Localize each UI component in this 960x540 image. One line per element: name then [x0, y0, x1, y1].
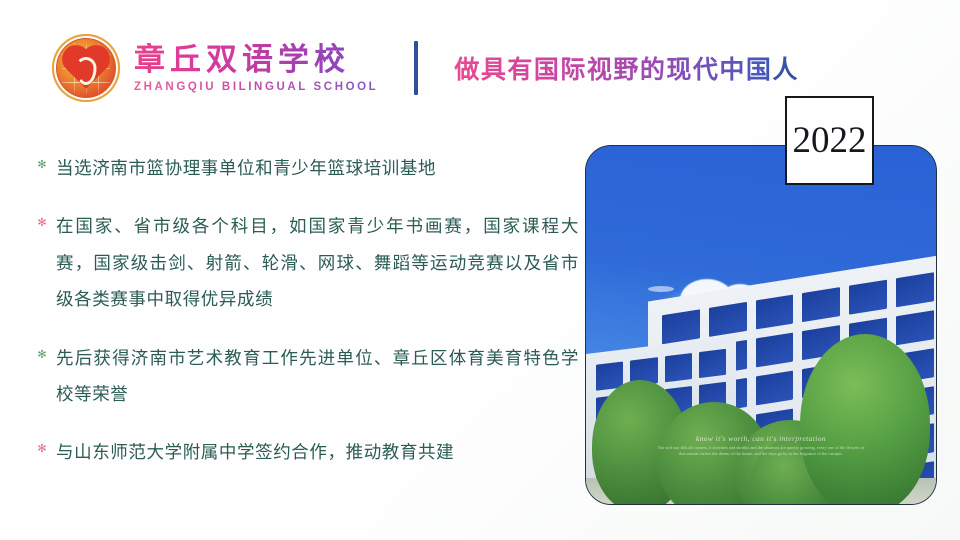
- bullet-marker-icon: ✻: [34, 217, 50, 228]
- tree-icon: [800, 334, 930, 505]
- school-wordmark: 章丘双语学校 ZHANGQIU BILINGUAL SCHOOL: [134, 43, 378, 93]
- year-badge-value: 2022: [793, 122, 867, 159]
- bullet-text: 与山东师范大学附属中学签约合作，推动教育共建: [56, 434, 454, 470]
- slide-header: 章丘双语学校 ZHANGQIU BILINGUAL SCHOOL 做具有国际视野…: [52, 32, 799, 104]
- bullet-marker-icon: ✻: [34, 443, 50, 454]
- cloud-wisp-icon: [648, 286, 674, 292]
- list-item: ✻ 当选济南市篮协理事单位和青少年篮球培训基地: [34, 150, 579, 186]
- header-divider: [414, 41, 418, 95]
- bullet-text: 在国家、省市级各个科目，如国家青少年书画赛，国家课程大赛，国家级击剑、射箭、轮滑…: [56, 208, 579, 317]
- bullet-marker-icon: ✻: [34, 349, 50, 360]
- bullet-text: 先后获得济南市艺术教育工作先进单位、章丘区体育美育特色学校等荣誉: [56, 340, 579, 413]
- year-badge: 2022: [785, 96, 874, 185]
- list-item: ✻ 与山东师范大学附属中学签约合作，推动教育共建: [34, 434, 579, 470]
- campus-photo: know it's worth, can it's interpretation…: [585, 145, 937, 505]
- list-item: ✻ 先后获得济南市艺术教育工作先进单位、章丘区体育美育特色学校等荣誉: [34, 340, 579, 413]
- header-tagline: 做具有国际视野的现代中国人: [454, 50, 799, 86]
- school-emblem-icon: [52, 34, 120, 102]
- school-name-cn: 章丘双语学校: [134, 43, 378, 78]
- bullet-marker-icon: ✻: [34, 159, 50, 170]
- achievement-bullet-list: ✻ 当选济南市篮协理事单位和青少年篮球培训基地 ✻ 在国家、省市级各个科目，如国…: [34, 150, 579, 471]
- school-name-en: ZHANGQIU BILINGUAL SCHOOL: [134, 81, 378, 93]
- bullet-text: 当选济南市篮协理事单位和青少年篮球培训基地: [56, 150, 436, 186]
- list-item: ✻ 在国家、省市级各个科目，如国家青少年书画赛，国家课程大赛，国家级击剑、射箭、…: [34, 208, 579, 317]
- slide-canvas: 章丘双语学校 ZHANGQIU BILINGUAL SCHOOL 做具有国际视野…: [0, 0, 960, 540]
